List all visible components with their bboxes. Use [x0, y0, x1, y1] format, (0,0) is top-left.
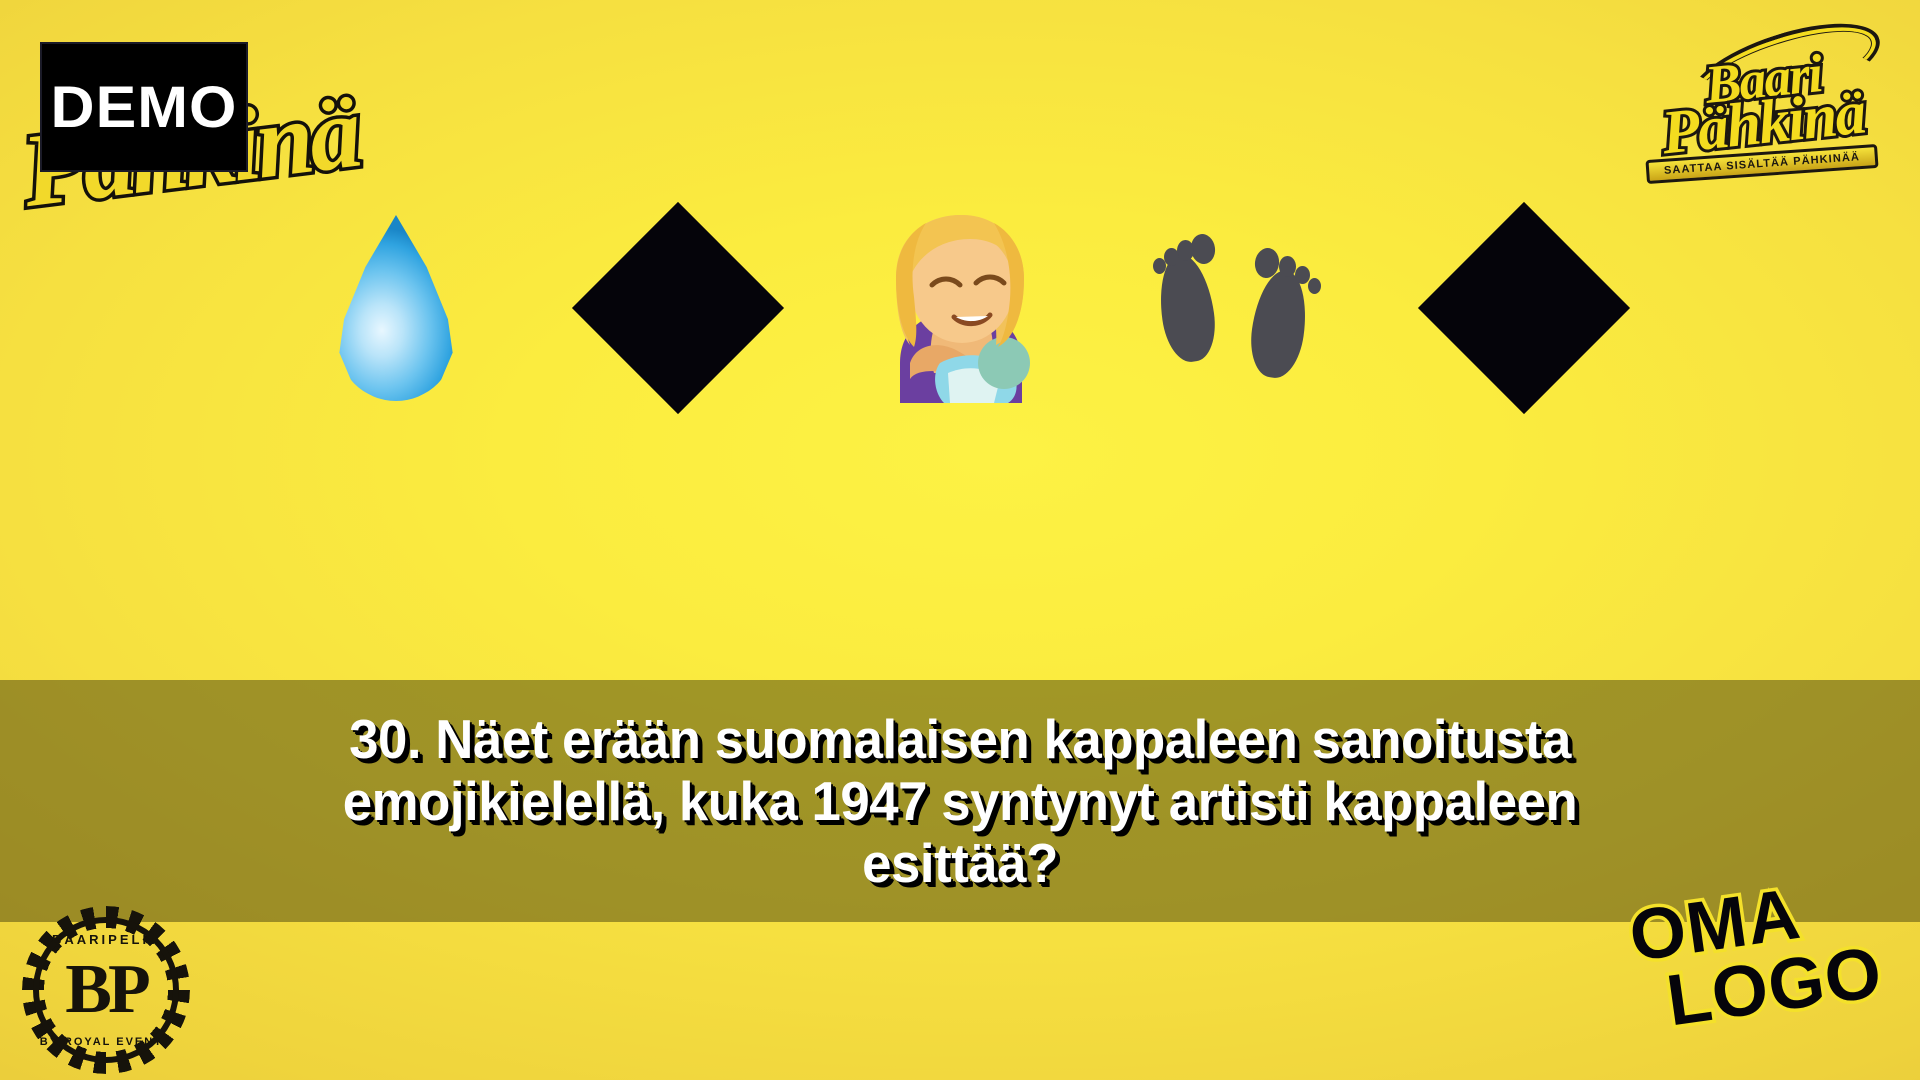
cap-badge-arc-top: BAARIPELIT [22, 932, 190, 947]
black-diamond-1 [583, 203, 773, 413]
demo-badge-label: DEMO [51, 74, 238, 141]
oma-logo-placeholder: OMA LOGO [1626, 869, 1887, 1040]
footprints-shape [1147, 218, 1337, 398]
diamond-shape [572, 202, 784, 414]
cap-badge-arc-bottom: BY ROYAL EVENTS [22, 1036, 190, 1048]
black-diamond-2 [1429, 203, 1619, 413]
demo-badge: DEMO [40, 42, 248, 172]
question-band: 30. Näet erään suomalaisen kappaleen san… [0, 680, 1920, 922]
cap-badge-monogram: BP [22, 950, 190, 1030]
brand-logo: Baari Pähkinä SAATTAA SISÄLTÄÄ PÄHKINÄÄ [1628, 26, 1898, 176]
emoji-rebus-row [0, 178, 1920, 438]
quiz-slide: Pähkinä DEMO Baari Pähkinä SAATTAA SISÄL… [0, 0, 1920, 1080]
footprints-emoji [1147, 203, 1337, 413]
droplet-shape [337, 215, 455, 401]
droplet-emoji [301, 203, 491, 413]
baaripelit-cap-badge: BAARIPELIT BP BY ROYAL EVENTS [22, 906, 190, 1074]
breastfeeding-emoji [865, 203, 1055, 413]
question-text: 30. Näet erään suomalaisen kappaleen san… [317, 708, 1603, 894]
diamond-shape [1418, 202, 1630, 414]
